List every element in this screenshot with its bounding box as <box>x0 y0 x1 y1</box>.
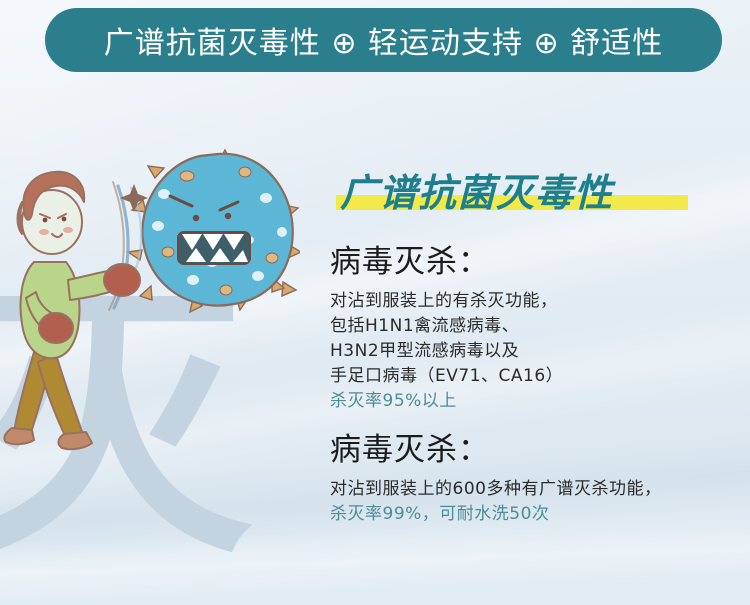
section-virus-kill-1: 病毒灭杀： 对沾到服装上的有杀灭功能， 包括H1N1禽流感病毒、 H3N2甲型流… <box>330 236 563 414</box>
section-line: 手足口病毒（EV71、CA16） <box>330 364 563 389</box>
page-title: 广谱抗菌灭毒性 <box>340 162 613 217</box>
promo-page: 灭 广谱抗菌灭毒性 ⊕ 轻运动支持 ⊕ 舒适性 <box>0 0 750 605</box>
section-virus-kill-2: 病毒灭杀： 对沾到服装上的600多种有广谱灭杀功能， 杀灭率99%，可耐水洗50… <box>330 424 661 527</box>
virus-character <box>128 150 300 312</box>
section-heading: 病毒灭杀： <box>330 424 661 469</box>
section-line: 对沾到服装上的有杀灭功能， <box>330 289 563 314</box>
header-banner: 广谱抗菌灭毒性 ⊕ 轻运动支持 ⊕ 舒适性 <box>45 8 722 72</box>
boxer-character <box>4 172 140 449</box>
virus-body <box>142 154 292 306</box>
section-heading: 病毒灭杀： <box>330 236 563 281</box>
virus-mouth <box>178 232 250 264</box>
illustration <box>0 140 300 460</box>
section-accent-line: 杀灭率95%以上 <box>330 389 563 414</box>
section-accent-line: 杀灭率99%，可耐水洗50次 <box>330 502 661 527</box>
main-title-wrap: 广谱抗菌灭毒性 <box>334 162 714 216</box>
section-line: 包括H1N1禽流感病毒、 <box>330 314 563 339</box>
section-line: H3N2甲型流感病毒以及 <box>330 339 563 364</box>
section-line: 对沾到服装上的600多种有广谱灭杀功能， <box>330 477 661 502</box>
header-banner-text: 广谱抗菌灭毒性 ⊕ 轻运动支持 ⊕ 舒适性 <box>104 18 663 62</box>
boxing-glove-rear <box>39 313 73 343</box>
illustration-svg <box>0 140 300 460</box>
